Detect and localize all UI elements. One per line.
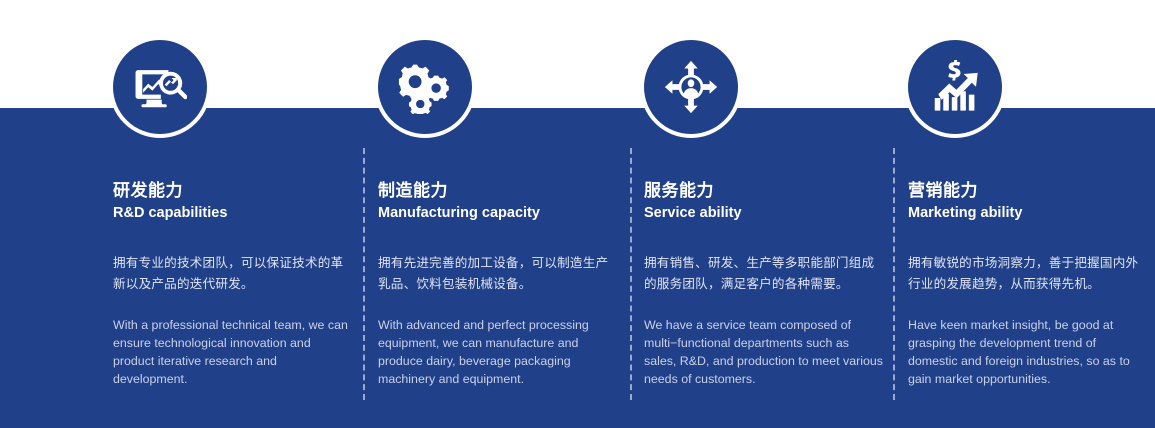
title-en-marketing: Marketing ability xyxy=(908,204,1148,223)
title-en-manufacturing: Manufacturing capacity xyxy=(378,204,618,223)
growth-chart-dollar-icon xyxy=(928,60,982,114)
text-block-manufacturing: 制造能力 Manufacturing capacity 拥有先进完善的加工设备，… xyxy=(378,180,618,388)
title-cn-rnd: 研发能力 xyxy=(113,180,353,202)
body-cn-marketing: 拥有敏锐的市场洞察力，善于把握国内外行业的发展趋势，从而获得先机。 xyxy=(908,253,1148,295)
title-cn-marketing: 营销能力 xyxy=(908,180,1148,202)
capability-card-rnd: 研发能力 R&D capabilities 拥有专业的技术团队，可以保证技术的革… xyxy=(100,0,365,428)
monitor-chart-magnifier-icon xyxy=(133,60,187,114)
text-block-service: 服务能力 Service ability 拥有销售、研发、生产等多职能部门组成的… xyxy=(644,180,884,388)
body-en-marketing: Have keen market insight, be good at gra… xyxy=(908,316,1148,388)
title-cn-service: 服务能力 xyxy=(644,180,884,202)
icon-circle-marketing xyxy=(908,40,1002,134)
capability-card-service: 服务能力 Service ability 拥有销售、研发、生产等多职能部门组成的… xyxy=(631,0,896,428)
text-block-marketing: 营销能力 Marketing ability 拥有敏锐的市场洞察力，善于把握国内… xyxy=(908,180,1148,388)
title-cn-manufacturing: 制造能力 xyxy=(378,180,618,202)
icon-circle-rnd xyxy=(113,40,207,134)
body-en-rnd: With a professional technical team, we c… xyxy=(113,316,353,388)
title-en-service: Service ability xyxy=(644,204,884,223)
body-en-service: We have a service team composed of multi… xyxy=(644,316,884,388)
capability-card-manufacturing: 制造能力 Manufacturing capacity 拥有先进完善的加工设备，… xyxy=(365,0,630,428)
capabilities-infographic: 研发能力 R&D capabilities 拥有专业的技术团队，可以保证技术的革… xyxy=(0,0,1155,428)
gears-icon xyxy=(398,60,452,114)
body-cn-rnd: 拥有专业的技术团队，可以保证技术的革新以及产品的迭代研发。 xyxy=(113,253,353,295)
text-block-rnd: 研发能力 R&D capabilities 拥有专业的技术团队，可以保证技术的革… xyxy=(113,180,353,388)
person-four-arrows-icon xyxy=(664,60,718,114)
capability-card-marketing: 营销能力 Marketing ability 拥有敏锐的市场洞察力，善于把握国内… xyxy=(895,0,1155,428)
title-en-rnd: R&D capabilities xyxy=(113,204,353,223)
icon-circle-service xyxy=(644,40,738,134)
body-en-manufacturing: With advanced and perfect processing equ… xyxy=(378,316,618,388)
body-cn-manufacturing: 拥有先进完善的加工设备，可以制造生产乳品、饮料包装机械设备。 xyxy=(378,253,618,295)
body-cn-service: 拥有销售、研发、生产等多职能部门组成的服务团队，满足客户的各种需要。 xyxy=(644,253,884,295)
icon-circle-manufacturing xyxy=(378,40,472,134)
